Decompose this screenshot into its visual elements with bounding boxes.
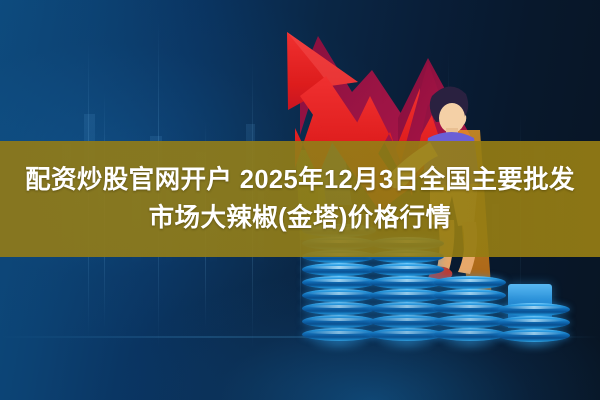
floor-glow: [0, 250, 600, 400]
title-line-2: 市场大辣椒(金塔)价格行情: [149, 200, 452, 236]
title-line-1: 配资炒股官网开户 2025年12月3日全国主要批发: [25, 162, 575, 198]
title-block: 配资炒股官网开户 2025年12月3日全国主要批发 市场大辣椒(金塔)价格行情: [0, 141, 600, 257]
banner-image: 配资炒股官网开户 2025年12月3日全国主要批发 市场大辣椒(金塔)价格行情: [0, 0, 600, 400]
